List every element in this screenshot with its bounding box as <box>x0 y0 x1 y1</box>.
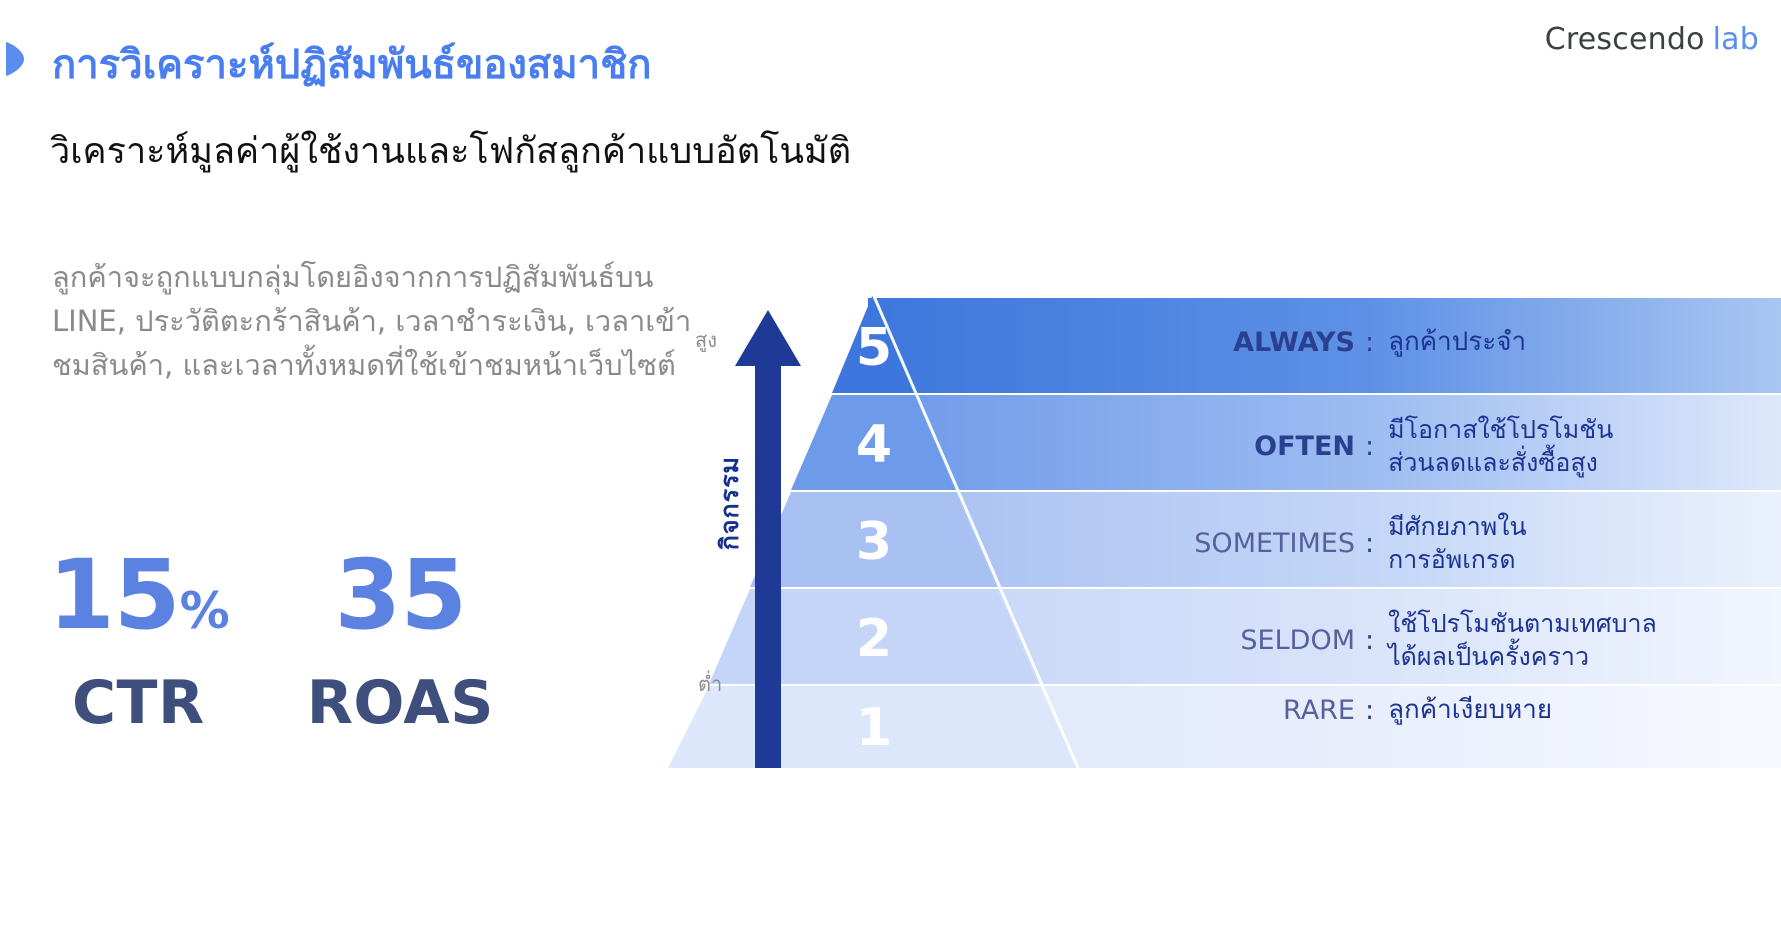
intro-line-2: LINE, ประวัติตะกร้าสินค้า, เวลาชำระเงิน,… <box>52 299 672 343</box>
tier-colon-often: : <box>1365 431 1374 462</box>
tier-desc-often: มีโอกาสใช้โปรโมชัน ส่วนลดและสั่งซื้อสูง <box>1388 413 1613 479</box>
stat-ctr-label: CTR <box>72 668 205 738</box>
tier-row-always: ALWAYS : ลูกค้าประจำ <box>1140 326 1526 358</box>
tier-colon-rare: : <box>1365 695 1374 726</box>
stat-ctr: 15% CTR <box>48 545 229 738</box>
triangle-right-icon <box>4 40 26 78</box>
tier-row-rare: RARE : ลูกค้าเงียบหาย <box>1140 694 1552 726</box>
tier-row-seldom: SELDOM : ใช้โปรโมชันตามเทศบาล ได้ผลเป็นค… <box>1140 607 1657 673</box>
stats-row: 15% CTR 35 ROAS <box>48 545 494 738</box>
axis-label-high: สูง <box>695 324 717 356</box>
intro-line-1: ลูกค้าจะถูกแบบกลุ่มโดยอิงจากการปฏิสัมพัน… <box>52 255 672 299</box>
tier-number-5: 5 <box>844 318 904 378</box>
tier-number-2: 2 <box>844 609 904 669</box>
tier-key-always: ALWAYS <box>1140 327 1355 358</box>
page-title: การวิเคราะห์ปฏิสัมพันธ์ของสมาชิก <box>52 32 652 96</box>
tier-key-sometimes: SOMETIMES <box>1140 528 1355 559</box>
page-subtitle: วิเคราะห์มูลค่าผู้ใช้งานและโฟกัสลูกค้าแบ… <box>50 122 851 179</box>
tier-colon-sometimes: : <box>1365 528 1374 559</box>
intro-line-3: ชมสินค้า, และเวลาทั้งหมดที่ใช้เข้าชมหน้า… <box>52 343 672 387</box>
tier-key-rare: RARE <box>1140 695 1355 726</box>
pyramid-diagram: สูง ต่ำ กิจกรรม 5 4 3 2 1 ALWAYS : ลูกค้… <box>620 288 1781 768</box>
brand-name-primary: Crescendo <box>1545 22 1705 57</box>
tier-row-often: OFTEN : มีโอกาสใช้โปรโมชัน ส่วนลดและสั่ง… <box>1140 413 1613 479</box>
stat-roas: 35 ROAS <box>307 545 494 738</box>
tier-desc-seldom: ใช้โปรโมชันตามเทศบาล ได้ผลเป็นครั้งคราว <box>1388 607 1657 673</box>
tier-number-4: 4 <box>844 415 904 475</box>
stat-roas-label: ROAS <box>307 668 494 738</box>
stat-ctr-unit: % <box>180 582 229 640</box>
tier-number-3: 3 <box>844 512 904 572</box>
tier-desc-always: ลูกค้าประจำ <box>1388 326 1526 358</box>
tier-desc-rare: ลูกค้าเงียบหาย <box>1388 694 1552 726</box>
brand-logo: Crescendolab <box>1545 22 1759 57</box>
tier-colon-seldom: : <box>1365 625 1374 656</box>
tier-desc-sometimes: มีศักยภาพใน การอัพเกรด <box>1388 510 1526 576</box>
tier-row-sometimes: SOMETIMES : มีศักยภาพใน การอัพเกรด <box>1140 510 1527 576</box>
intro-paragraph: ลูกค้าจะถูกแบบกลุ่มโดยอิงจากการปฏิสัมพัน… <box>52 255 672 387</box>
tier-colon-always: : <box>1365 327 1374 358</box>
axis-label-activity: กิจกรรม <box>710 456 750 550</box>
stat-ctr-value: 15% <box>48 545 229 646</box>
stat-roas-value: 35 <box>335 545 467 646</box>
brand-name-secondary: lab <box>1713 22 1759 57</box>
tier-number-1: 1 <box>844 698 904 758</box>
axis-label-low: ต่ำ <box>698 668 722 700</box>
tier-key-often: OFTEN <box>1140 431 1355 462</box>
tier-key-seldom: SELDOM <box>1140 625 1355 656</box>
